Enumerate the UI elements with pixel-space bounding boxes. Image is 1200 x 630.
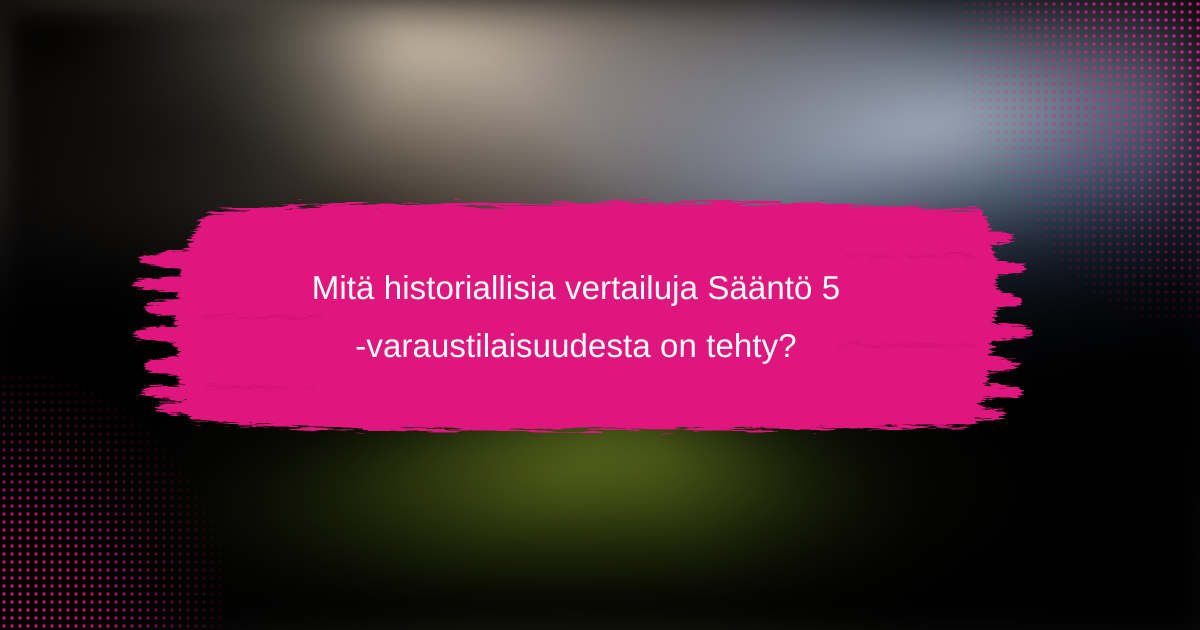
share-card: Mitä historiallisia vertailuja Sääntö 5 … (0, 0, 1200, 630)
headline-line-1: Mitä historiallisia vertailuja Sääntö 5 (312, 259, 840, 317)
headline-line-2: -varaustilaisuudesta on tehty? (355, 317, 796, 375)
headline: Mitä historiallisia vertailuja Sääntö 5 … (146, 196, 1006, 438)
